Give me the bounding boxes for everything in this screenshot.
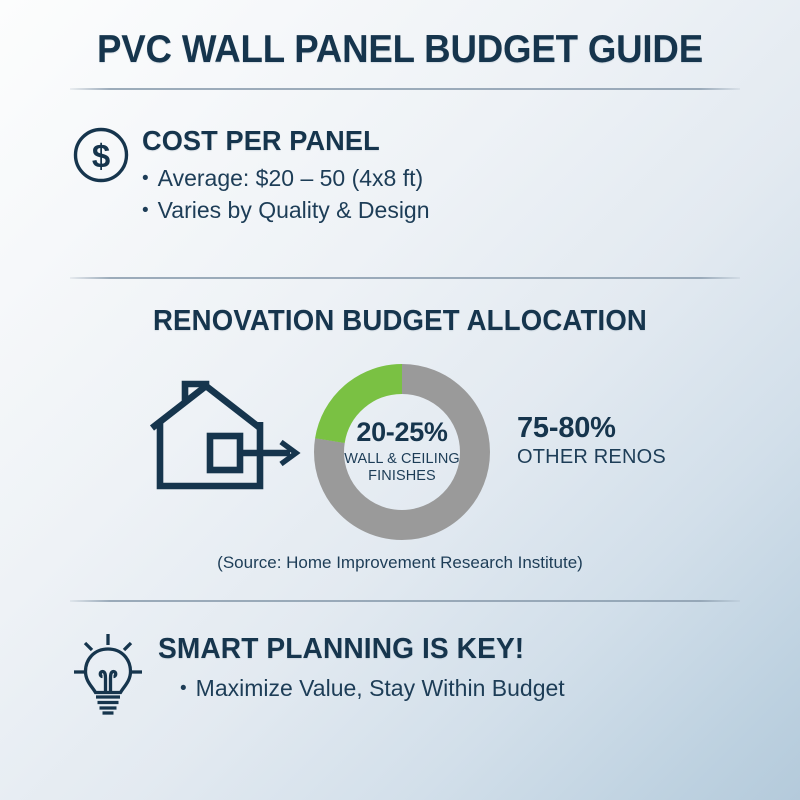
list-item: • Varies by Quality & Design	[142, 194, 430, 227]
donut-chart: 20-25% WALL & CEILING FINISHES	[312, 362, 492, 542]
donut-value: 20-25%	[356, 419, 447, 446]
dollar-circle-icon: $	[72, 126, 130, 184]
cost-heading: COST PER PANEL	[142, 126, 421, 157]
other-renos-value: 75-80%	[517, 413, 666, 443]
list-item: • Maximize Value, Stay Within Budget	[180, 672, 565, 705]
smart-bullet-list: • Maximize Value, Stay Within Budget	[158, 672, 565, 705]
list-item-label: Maximize Value, Stay Within Budget	[196, 672, 565, 705]
bullet-dot-icon: •	[142, 201, 149, 220]
donut-label-line1: WALL & CEILING	[344, 451, 460, 468]
donut-center-label: 20-25% WALL & CEILING FINISHES	[312, 362, 492, 542]
list-item: • Average: $20 – 50 (4x8 ft)	[142, 162, 430, 195]
section-cost-per-panel: $ COST PER PANEL • Average: $20 – 50 (4x…	[72, 124, 732, 227]
list-item-label: Average: $20 – 50 (4x8 ft)	[158, 162, 424, 195]
smart-heading: SMART PLANNING IS KEY!	[158, 634, 552, 666]
list-item-label: Varies by Quality & Design	[158, 194, 430, 227]
divider-top	[70, 88, 740, 90]
other-renos-legend: 75-80% OTHER RENOS	[517, 413, 666, 469]
bullet-dot-icon: •	[142, 169, 149, 188]
section-smart-planning: SMART PLANNING IS KEY! • Maximize Value,…	[72, 628, 732, 718]
allocation-heading: RENOVATION BUDGET ALLOCATION	[20, 305, 780, 338]
donut-label-line2: FINISHES	[368, 468, 436, 485]
house-arrow-icon	[148, 378, 310, 490]
infographic-page: PVC WALL PANEL BUDGET GUIDE $ COST PER P…	[0, 0, 800, 800]
other-renos-label: OTHER RENOS	[517, 446, 666, 469]
chart-source-note: (Source: Home Improvement Research Insti…	[0, 553, 800, 573]
divider-bottom	[70, 600, 740, 602]
cost-bullet-list: • Average: $20 – 50 (4x8 ft) • Varies by…	[142, 162, 430, 227]
lightbulb-icon	[72, 630, 144, 718]
page-title: PVC WALL PANEL BUDGET GUIDE	[24, 28, 776, 72]
bullet-dot-icon: •	[180, 679, 187, 698]
divider-middle	[70, 277, 740, 279]
svg-text:$: $	[92, 138, 110, 175]
